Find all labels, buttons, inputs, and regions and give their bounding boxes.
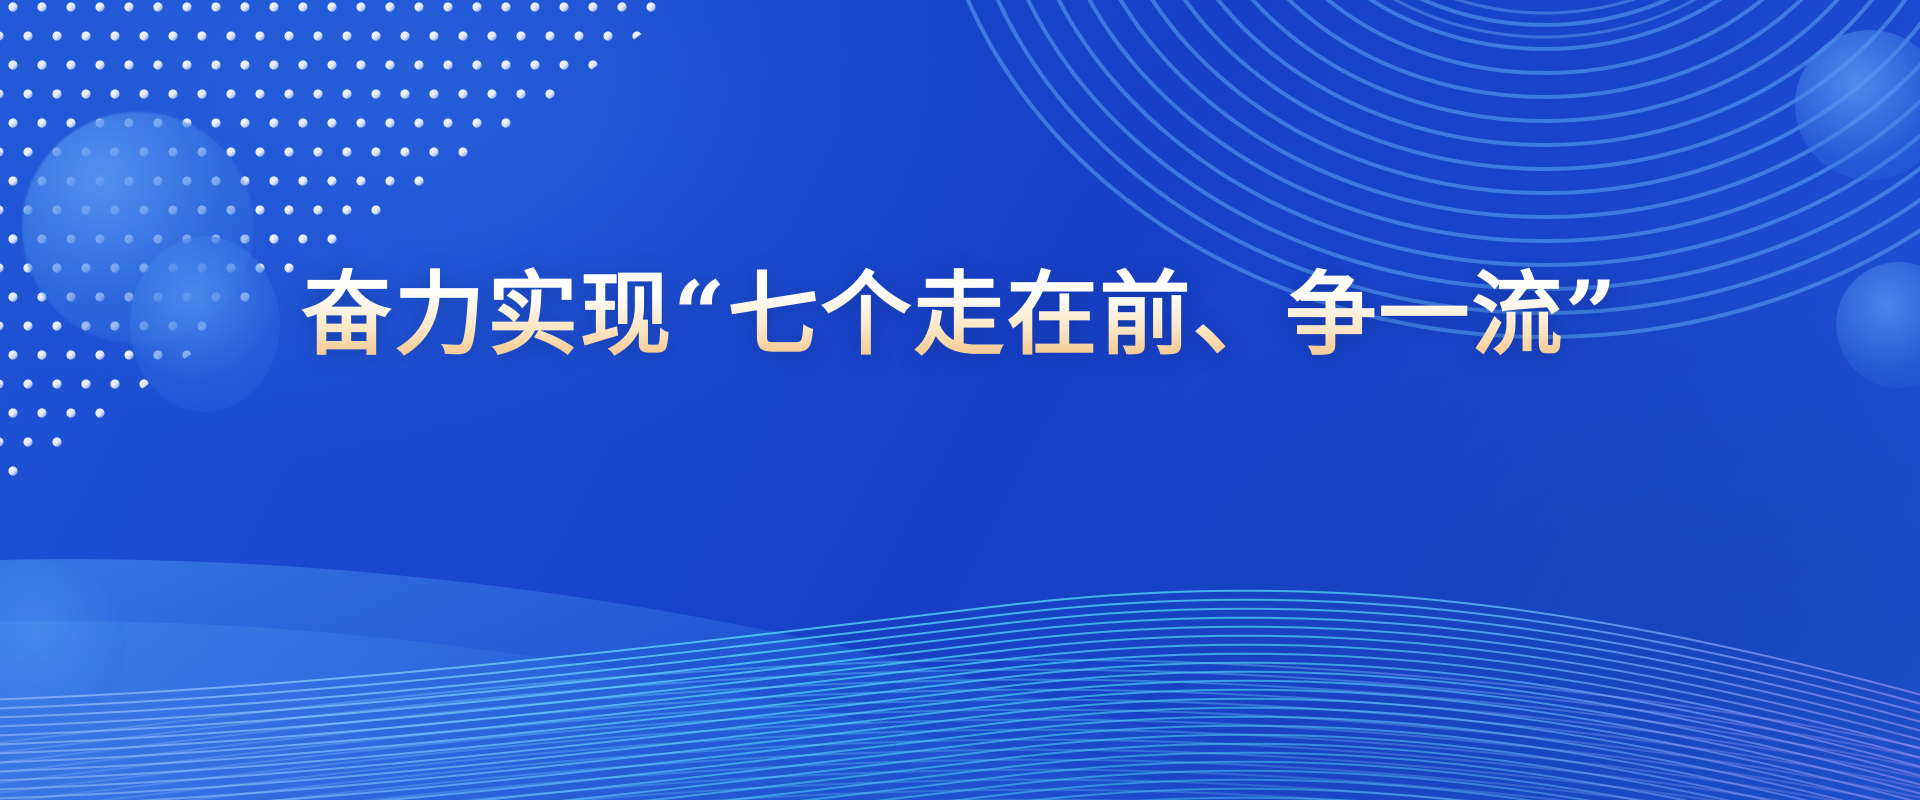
- banner-title: 奋力实现“七个走在前、争一流”: [301, 262, 1619, 369]
- promo-banner: 奋力实现“七个走在前、争一流”: [0, 0, 1920, 800]
- banner-title-container: 奋力实现“七个走在前、争一流”: [0, 262, 1920, 369]
- circle-blob-left-low: [0, 560, 126, 740]
- circle-blob-right-top: [1795, 30, 1920, 180]
